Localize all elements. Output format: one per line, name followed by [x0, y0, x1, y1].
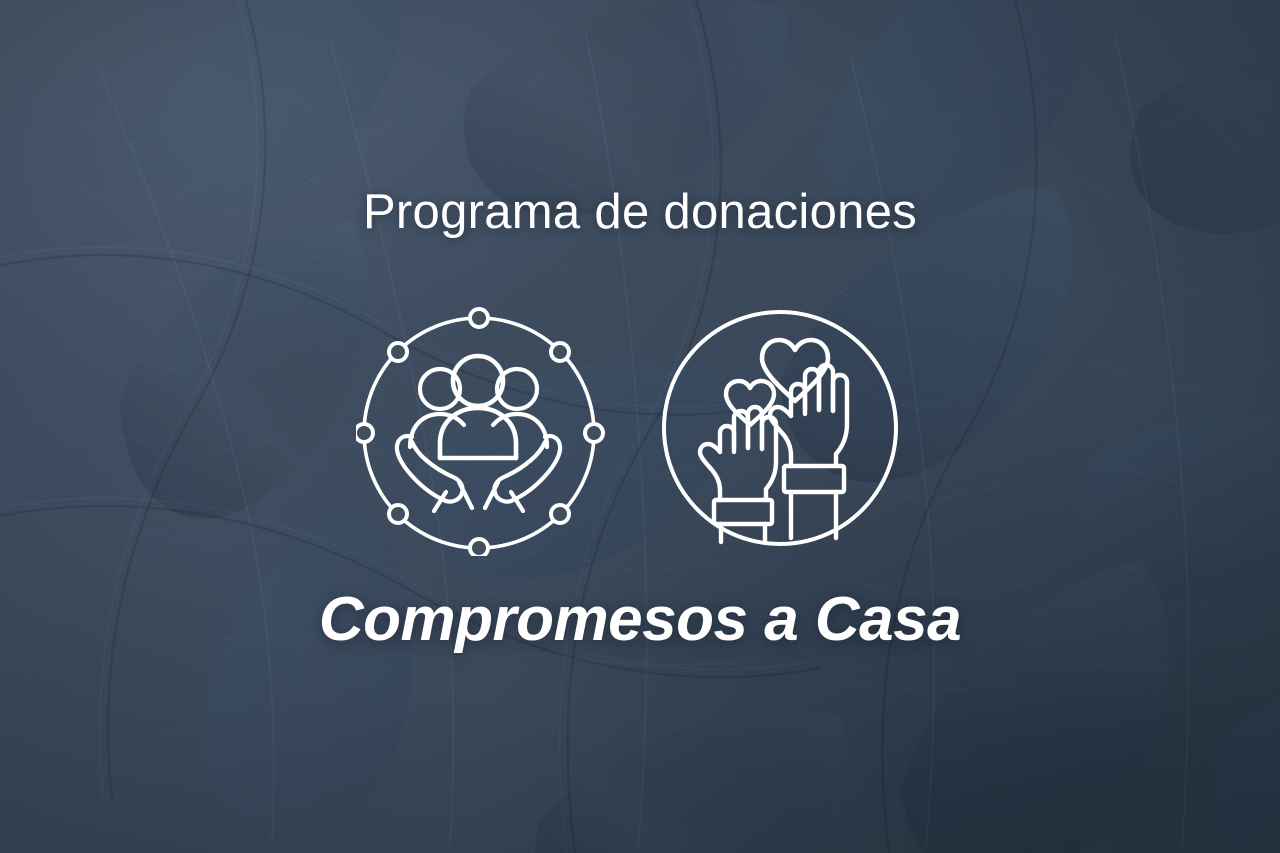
poster-content: Programa de donaciones: [0, 0, 1280, 853]
icon-row: [0, 306, 1280, 556]
program-eyebrow-text: Programa de donaciones: [0, 186, 1280, 240]
network-hands-people-icon: [356, 306, 606, 556]
donation-program-poster: Programa de donaciones: [0, 0, 1280, 853]
volunteer-hands-hearts-icon: [660, 306, 900, 546]
program-headline-text: Compromesos a Casa: [0, 586, 1280, 654]
